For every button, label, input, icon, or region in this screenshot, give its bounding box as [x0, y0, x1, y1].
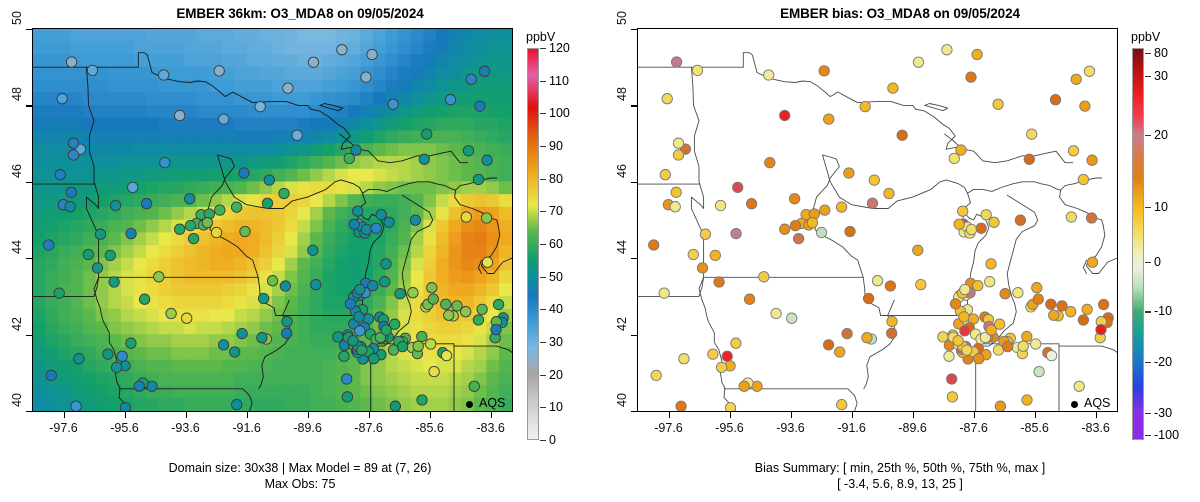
aqs-monitor-marker	[384, 217, 394, 227]
aqs-monitor-marker	[974, 354, 984, 364]
aqs-monitor-marker	[479, 66, 489, 76]
panel-title-bias: EMBER bias: O3_MDA8 on 09/05/2024	[600, 6, 1200, 21]
x-tick-mark	[852, 412, 853, 418]
aqs-monitor-marker	[671, 57, 681, 67]
x-tick-mark	[430, 412, 431, 418]
aqs-monitor-marker	[345, 299, 355, 309]
y-tick-mark	[26, 411, 32, 412]
y-tick-mark	[631, 411, 637, 412]
aqs-monitor-marker	[355, 326, 365, 336]
aqs-monitor-marker	[355, 284, 365, 294]
aqs-monitor-marker	[1000, 289, 1010, 299]
x-tick-label: -97.6	[49, 421, 78, 435]
colorbar-tick-label: 100	[549, 106, 570, 120]
aqs-monitor-marker	[175, 224, 185, 234]
y-tick-label: 48	[10, 87, 24, 101]
aqs-monitor-marker	[816, 227, 826, 237]
x-tick-label: -97.6	[654, 421, 683, 435]
colorbar-tick-label: 10	[549, 400, 563, 414]
aqs-monitor-marker	[237, 328, 247, 338]
aqs-monitor-marker	[679, 354, 689, 364]
colorbar-tick-label: -20	[1154, 355, 1172, 369]
aqs-monitor-marker	[1018, 341, 1028, 351]
aqs-monitor-marker	[92, 263, 102, 273]
aqs-monitor-marker	[1015, 215, 1025, 225]
aqs-monitor-marker	[1031, 339, 1041, 349]
aqs-monitor-marker	[1013, 288, 1023, 298]
aqs-monitor-marker	[66, 57, 76, 67]
aqs-monitor-marker	[863, 293, 873, 303]
colorbar-tick-label: 30	[1154, 69, 1168, 83]
aqs-monitor-marker	[966, 72, 976, 82]
colorbar-tick-mark	[540, 113, 546, 114]
x-tick-mark	[1096, 412, 1097, 418]
aqs-monitor-marker	[1098, 299, 1108, 309]
aqs-monitor-marker	[215, 205, 225, 215]
aqs-monitor-marker	[481, 213, 491, 223]
aqs-monitor-marker	[731, 338, 741, 348]
caption-line1-model: Domain size: 30x38 | Max Model = 89 at (…	[0, 460, 600, 476]
aqs-monitor-marker	[867, 198, 877, 208]
aqs-monitor-marker	[120, 403, 130, 411]
colorbar-tick-label: 80	[549, 172, 563, 186]
x-tick-mark	[125, 412, 126, 418]
aqs-monitor-marker	[807, 218, 817, 228]
aqs-monitor-marker	[388, 99, 398, 109]
x-tick-label: -89.6	[293, 421, 322, 435]
aqs-monitor-marker	[44, 240, 54, 250]
aqs-monitor-marker	[333, 332, 343, 342]
aqs-monitor-marker	[188, 233, 198, 243]
aqs-monitor-marker	[110, 200, 120, 210]
colorbar-tick-mark	[1145, 362, 1151, 363]
aqs-legend-marker	[466, 401, 473, 408]
aqs-monitor-marker	[311, 279, 321, 289]
colorbar-tick-label: 90	[549, 139, 563, 153]
y-tick-mark	[631, 105, 637, 106]
aqs-monitor-marker	[117, 351, 127, 361]
aqs-monitor-marker	[1078, 174, 1088, 184]
aqs-monitor-marker	[700, 229, 710, 239]
aqs-monitor-marker	[649, 240, 659, 250]
aqs-monitor-marker	[960, 326, 970, 336]
aqs-monitor-marker	[962, 345, 972, 355]
colorbar-tick-mark	[540, 179, 546, 180]
aqs-monitor-marker	[126, 228, 136, 238]
colorbar-tick-mark	[540, 407, 546, 408]
aqs-monitor-marker	[819, 66, 829, 76]
aqs-monitor-marker	[395, 289, 405, 299]
aqs-monitor-marker	[255, 101, 265, 111]
aqs-monitor-marker	[673, 138, 683, 148]
aqs-monitor-marker	[444, 310, 454, 320]
aqs-legend-label-bias: AQS	[1084, 396, 1110, 410]
aqs-monitor-marker	[1046, 299, 1056, 309]
x-tick-label: -91.6	[232, 421, 261, 435]
aqs-monitor-marker	[872, 276, 882, 286]
aqs-monitor-marker	[111, 362, 121, 372]
aqs-monitor-marker	[1002, 341, 1012, 351]
aqs-monitor-marker	[1084, 66, 1094, 76]
aqs-monitor-marker	[659, 288, 669, 298]
map-canvas-model	[33, 29, 512, 411]
aqs-monitor-marker	[349, 219, 359, 229]
x-tick-label: -95.6	[715, 421, 744, 435]
y-tick-label: 44	[10, 240, 24, 254]
aqs-monitor-marker	[351, 145, 361, 155]
x-tick-mark	[974, 412, 975, 418]
aqs-monitor-marker	[1046, 350, 1056, 360]
colorbar-tick-mark	[1145, 53, 1151, 54]
aqs-monitor-marker	[482, 257, 492, 267]
aqs-monitor-marker	[673, 150, 683, 160]
colorbar-tick-mark	[540, 309, 546, 310]
colorbar-gradient-model	[527, 48, 539, 440]
aqs-monitor-marker	[482, 155, 492, 165]
colorbar-tick-label: 110	[549, 74, 569, 88]
colorbar-tick-mark	[540, 244, 546, 245]
aqs-monitor-marker	[134, 381, 144, 391]
aqs-monitor-marker	[842, 328, 852, 338]
aqs-legend-label-model: AQS	[479, 396, 505, 410]
aqs-monitor-marker	[66, 187, 76, 197]
aqs-monitor-marker	[68, 150, 78, 160]
aqs-monitor-marker	[708, 349, 718, 359]
aqs-monitor-marker	[461, 212, 471, 222]
aqs-monitor-marker	[308, 57, 318, 67]
aqs-monitor-marker	[87, 65, 97, 75]
aqs-monitor-marker	[884, 188, 894, 198]
aqs-monitor-marker	[109, 277, 119, 287]
aqs-monitor-marker	[1071, 74, 1081, 84]
aqs-monitor-marker	[65, 202, 75, 212]
colorbar-tick-label: -10	[1154, 304, 1172, 318]
aqs-monitor-marker	[160, 157, 170, 167]
y-tick-label: 42	[10, 317, 24, 331]
aqs-monitor-marker	[662, 94, 672, 104]
colorbar-tick-mark	[540, 277, 546, 278]
aqs-monitor-marker	[463, 146, 473, 156]
aqs-monitor-marker	[280, 281, 290, 291]
aqs-monitor-marker	[949, 153, 959, 163]
x-tick-label: -95.6	[110, 421, 139, 435]
aqs-monitor-marker	[466, 74, 476, 84]
aqs-monitor-markers	[649, 45, 1114, 411]
aqs-monitor-marker	[426, 339, 436, 349]
aqs-monitor-marker	[714, 277, 724, 287]
y-tick-label: 40	[615, 393, 629, 407]
x-tick-mark	[64, 412, 65, 418]
aqs-monitor-marker	[722, 351, 732, 361]
y-tick-mark	[26, 335, 32, 336]
map-canvas-bias	[638, 29, 1117, 411]
aqs-monitor-marker	[1068, 146, 1078, 156]
aqs-monitor-marker	[390, 319, 400, 329]
aqs-monitor-marker	[966, 224, 976, 234]
colorbar-gradient-bias	[1132, 48, 1144, 440]
aqs-monitor-marker	[408, 288, 418, 298]
aqs-monitor-marker	[344, 153, 354, 163]
aqs-monitor-marker	[376, 210, 386, 220]
aqs-monitor-marker	[993, 99, 1003, 109]
aqs-monitor-marker	[427, 283, 437, 293]
colorbar-tick-label: 60	[549, 237, 563, 251]
aqs-monitor-marker	[765, 157, 775, 167]
aqs-monitor-marker	[887, 316, 897, 326]
aqs-monitor-marker	[1033, 294, 1043, 304]
x-tick-mark	[669, 412, 670, 418]
aqs-monitor-marker	[353, 206, 363, 216]
y-tick-label: 44	[615, 240, 629, 254]
aqs-monitor-marker	[1066, 212, 1076, 222]
aqs-monitor-marker	[139, 294, 149, 304]
aqs-monitor-marker	[916, 279, 926, 289]
aqs-monitor-marker	[262, 198, 272, 208]
aqs-monitor-marker	[230, 347, 240, 357]
aqs-monitor-marker	[985, 277, 995, 287]
aqs-monitor-marker	[441, 299, 451, 309]
aqs-monitor-marker	[154, 272, 164, 282]
aqs-monitor-marker	[128, 182, 138, 192]
x-tick-mark	[1035, 412, 1036, 418]
aqs-monitor-marker	[159, 70, 169, 80]
aqs-monitor-marker	[461, 307, 471, 317]
aqs-monitor-marker	[837, 399, 847, 409]
aqs-monitor-marker	[339, 351, 349, 361]
aqs-monitor-marker	[292, 130, 302, 140]
aqs-monitor-marker	[913, 57, 923, 67]
colorbar-tick-mark	[1145, 435, 1151, 436]
aqs-monitor-marker	[141, 199, 151, 209]
aqs-monitor-marker	[267, 276, 277, 286]
aqs-monitor-marker	[337, 45, 347, 55]
aqs-monitor-marker	[57, 94, 67, 104]
colorbar-tick-label: 0	[549, 433, 556, 447]
aqs-monitor-marker	[960, 284, 970, 294]
colorbar-tick-mark	[540, 211, 546, 212]
aqs-monitor-marker	[477, 304, 487, 314]
aqs-monitor-marker	[417, 331, 427, 341]
x-tick-label: -89.6	[898, 421, 927, 435]
aqs-monitor-marker	[390, 401, 400, 411]
panel-bias: EMBER bias: O3_MDA8 on 09/05/2024 AQS -9…	[600, 0, 1200, 502]
panel-title-model: EMBER 36km: O3_MDA8 on 09/05/2024	[0, 6, 600, 21]
caption-line2-model: Max Obs: 75	[0, 476, 600, 492]
colorbar-tick-label: -30	[1154, 406, 1172, 420]
aqs-monitor-marker	[959, 312, 969, 322]
aqs-monitor-marker	[105, 250, 115, 260]
y-tick-mark	[26, 182, 32, 183]
aqs-monitor-marker	[692, 65, 702, 75]
aqs-monitor-marker	[995, 319, 1005, 329]
aqs-monitor-marker	[55, 170, 65, 180]
y-tick-label: 48	[615, 87, 629, 101]
aqs-monitor-marker	[219, 114, 229, 124]
aqs-monitor-marker	[793, 233, 803, 243]
aqs-monitor-marker	[95, 229, 105, 239]
x-tick-label: -87.6	[354, 421, 383, 435]
aqs-monitor-marker	[888, 83, 898, 93]
aqs-monitor-marker	[739, 381, 749, 391]
aqs-monitor-marker	[981, 210, 991, 220]
aqs-monitor-marker	[764, 70, 774, 80]
colorbar-tick-label: 40	[549, 302, 563, 316]
aqs-monitor-marker	[397, 341, 407, 351]
aqs-monitor-marker	[744, 294, 754, 304]
aqs-monitor-marker	[947, 392, 957, 402]
colorbar-tick-mark	[540, 48, 546, 49]
aqs-monitor-marker	[860, 101, 870, 111]
colorbar-tick-mark	[540, 81, 546, 82]
y-tick-label: 50	[615, 11, 629, 25]
aqs-legend-marker-bias	[1071, 401, 1078, 408]
aqs-monitor-marker	[1087, 257, 1097, 267]
aqs-monitor-marker	[419, 154, 429, 164]
aqs-monitor-marker	[1066, 307, 1076, 317]
aqs-monitor-marker	[950, 299, 960, 309]
aqs-monitor-marker	[671, 187, 681, 197]
aqs-monitor-marker	[258, 293, 268, 303]
y-tick-label: 40	[10, 393, 24, 407]
x-tick-mark	[791, 412, 792, 418]
aqs-monitor-marker	[357, 345, 367, 355]
aqs-monitor-marker	[731, 228, 741, 238]
aqs-monitor-marker	[771, 308, 781, 318]
aqs-monitor-marker	[126, 338, 136, 348]
aqs-monitor-marker	[660, 170, 670, 180]
aqs-monitor-marker	[759, 272, 769, 282]
aqs-monitor-marker	[429, 366, 439, 376]
aqs-monitor-marker	[947, 374, 957, 384]
aqs-monitor-marker	[441, 350, 451, 360]
aqs-monitor-marker	[944, 351, 954, 361]
aqs-monitor-marker	[1080, 101, 1090, 111]
x-tick-label: -93.6	[776, 421, 805, 435]
aqs-monitor-marker	[789, 194, 799, 204]
y-tick-mark	[631, 258, 637, 259]
aqs-monitor-marker	[231, 202, 241, 212]
colorbar-tick-label: 80	[1154, 46, 1168, 60]
aqs-monitor-marker	[715, 200, 725, 210]
colorbar-tick-mark	[1145, 413, 1151, 414]
aqs-monitor-marker	[845, 226, 855, 236]
aqs-monitor-marker	[976, 223, 986, 233]
aqs-monitor-marker	[422, 129, 432, 139]
aqs-monitor-marker	[844, 168, 854, 178]
aqs-monitor-marker	[824, 114, 834, 124]
caption-line2-bias: [ -3.4, 5.6, 8.9, 13, 25 ]	[600, 476, 1200, 492]
colorbar-tick-label: 120	[549, 41, 570, 55]
aqs-monitor-marker	[1027, 129, 1037, 139]
y-tick-mark	[26, 29, 32, 30]
aqs-monitor-marker	[184, 194, 194, 204]
aqs-monitor-marker	[240, 226, 250, 236]
aqs-monitor-marker	[185, 220, 195, 230]
aqs-monitor-marker	[68, 138, 78, 148]
aqs-monitor-marker	[371, 223, 381, 233]
aqs-monitor-marker	[239, 168, 249, 178]
aqs-monitor-marker	[218, 340, 228, 350]
aqs-monitor-marker	[283, 83, 293, 93]
aqs-monitor-marker	[182, 313, 192, 323]
colorbar-tick-label: 50	[549, 270, 563, 284]
aqs-monitor-marker	[282, 328, 292, 338]
y-tick-label: 50	[10, 11, 24, 25]
x-tick-label: -91.6	[837, 421, 866, 435]
colorbar-tick-label: 0	[1154, 255, 1161, 269]
aqs-monitor-marker	[1087, 155, 1097, 165]
aqs-monitor-marker	[787, 313, 797, 323]
colorbar-tick-label: 10	[1154, 200, 1168, 214]
colorbar-tick-mark	[1145, 207, 1151, 208]
aqs-monitor-marker	[953, 336, 963, 346]
aqs-monitor-marker	[282, 316, 292, 326]
y-tick-label: 46	[615, 164, 629, 178]
aqs-monitor-marker	[1022, 331, 1032, 341]
aqs-monitor-marker	[986, 259, 996, 269]
y-tick-mark	[631, 182, 637, 183]
y-tick-mark	[26, 105, 32, 106]
aqs-monitor-marker	[836, 202, 846, 212]
colorbar-tick-mark	[540, 375, 546, 376]
aqs-monitor-marker	[956, 145, 966, 155]
colorbar-tick-mark	[540, 440, 546, 441]
aqs-monitor-marker	[279, 188, 289, 198]
aqs-monitor-marker	[361, 224, 371, 234]
colorbar-tick-label: -100	[1154, 428, 1179, 442]
aqs-monitor-marker	[954, 219, 964, 229]
aqs-monitor-marker	[862, 333, 872, 343]
aqs-monitor-marker	[942, 45, 952, 55]
y-tick-label: 42	[615, 317, 629, 331]
aqs-monitor-marker	[835, 347, 845, 357]
aqs-monitor-marker	[820, 205, 830, 215]
aqs-monitor-marker	[676, 401, 686, 411]
aqs-monitor-marker	[733, 182, 743, 192]
aqs-monitor-marker	[308, 245, 318, 255]
colorbar-tick-mark	[1145, 76, 1151, 77]
aqs-monitor-marker	[710, 250, 720, 260]
aqs-monitor-marker	[74, 354, 84, 364]
aqs-monitor-marker	[1074, 381, 1084, 391]
aqs-monitor-marker	[972, 49, 982, 59]
y-tick-mark	[26, 258, 32, 259]
aqs-monitor-marker	[1086, 213, 1096, 223]
aqs-monitor-marker	[473, 174, 483, 184]
aqs-monitor-marker	[475, 101, 485, 111]
x-tick-mark	[730, 412, 731, 418]
aqs-monitor-marker	[697, 263, 707, 273]
aqs-monitor-marker	[790, 220, 800, 230]
aqs-monitor-marker	[342, 374, 352, 384]
colorbar-tick-label: 20	[1154, 128, 1168, 142]
aqs-monitor-marker	[491, 324, 501, 334]
x-tick-label: -93.6	[171, 421, 200, 435]
aqs-monitor-marker	[413, 341, 423, 351]
aqs-monitor-marker	[651, 370, 661, 380]
colorbar-tick-label: 70	[549, 204, 563, 218]
aqs-monitor-marker	[214, 66, 224, 76]
aqs-monitor-marker	[428, 294, 438, 304]
aqs-monitor-marker	[780, 110, 790, 120]
aqs-monitor-marker	[746, 199, 756, 209]
aqs-monitor-marker	[380, 277, 390, 287]
aqs-monitor-marker	[670, 202, 680, 212]
aqs-monitor-marker	[445, 95, 455, 105]
aqs-monitor-marker	[342, 392, 352, 402]
colorbar-tick-label: 20	[549, 368, 563, 382]
aqs-monitor-marker	[175, 110, 185, 120]
